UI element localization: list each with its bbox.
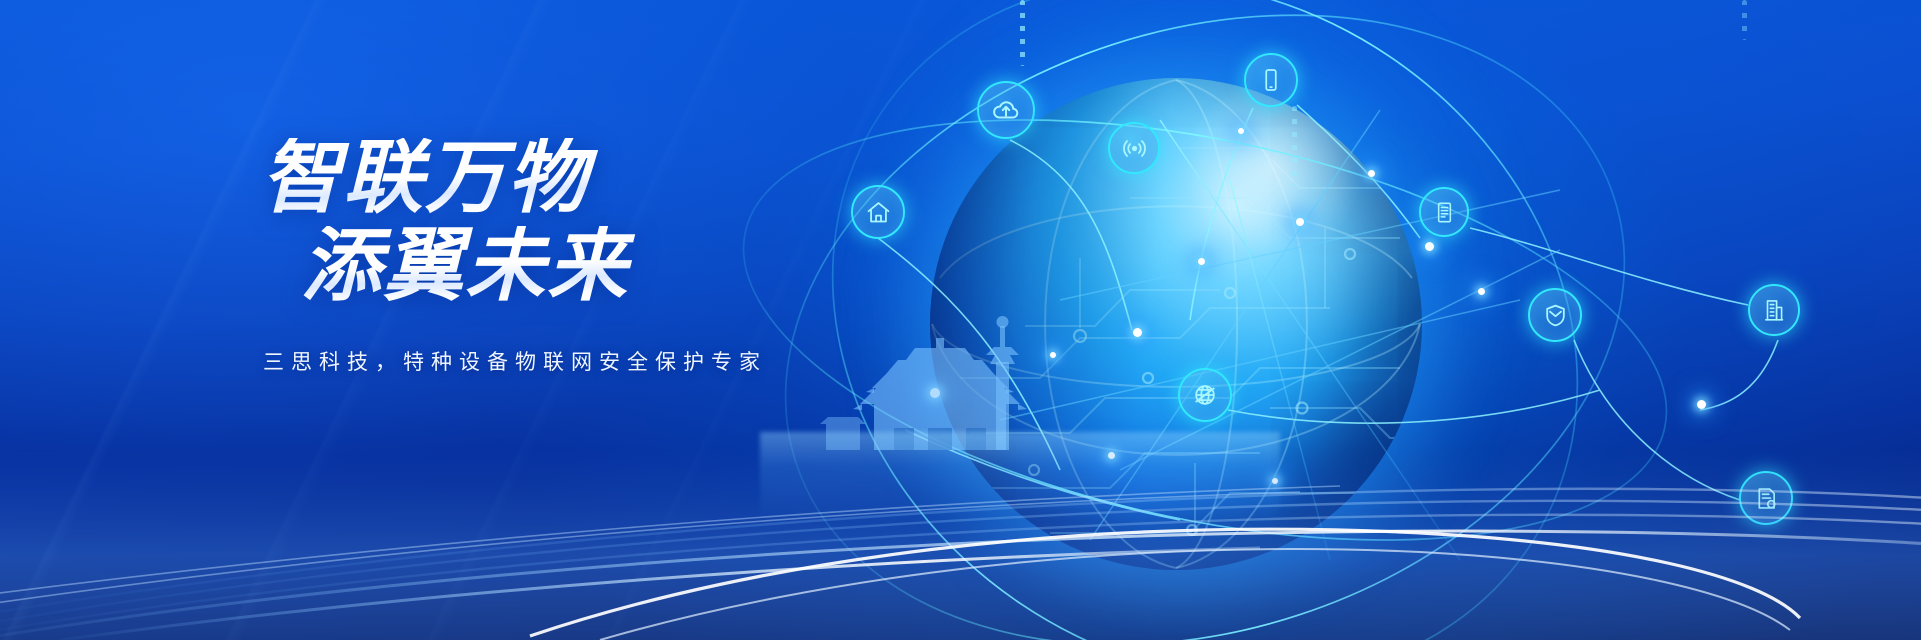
- headline-line-1: 智联万物: [261, 138, 1015, 218]
- page-title: 智联万物 添翼未来: [255, 138, 1015, 306]
- data-beam: [1742, 0, 1747, 40]
- headline-line-2: 添翼未来: [301, 226, 1015, 306]
- shield-check-icon[interactable]: [1528, 288, 1582, 342]
- server-list-icon[interactable]: [1419, 187, 1469, 237]
- network-node: [1296, 218, 1304, 226]
- network-node: [1198, 258, 1205, 265]
- building-icon[interactable]: [1748, 284, 1800, 336]
- data-beam: [1292, 106, 1297, 186]
- hero-banner: 智联万物 添翼未来 三思科技，特种设备物联网安全保护专家: [0, 0, 1921, 640]
- banner-copy: 智联万物 添翼未来 三思科技，特种设备物联网安全保护专家: [255, 138, 1015, 376]
- data-beam: [1020, 0, 1025, 66]
- network-node: [1133, 328, 1142, 337]
- smartphone-icon[interactable]: [1244, 53, 1298, 107]
- network-node: [1478, 288, 1485, 295]
- bottom-light-trails: [0, 380, 1921, 640]
- network-node: [1238, 128, 1244, 134]
- banner-subtitle: 三思科技，特种设备物联网安全保护专家: [263, 346, 1015, 376]
- cloud-upload-icon[interactable]: [977, 81, 1035, 139]
- wifi-signal-icon[interactable]: [1108, 122, 1160, 174]
- network-node: [1368, 170, 1375, 177]
- network-node: [1425, 242, 1434, 251]
